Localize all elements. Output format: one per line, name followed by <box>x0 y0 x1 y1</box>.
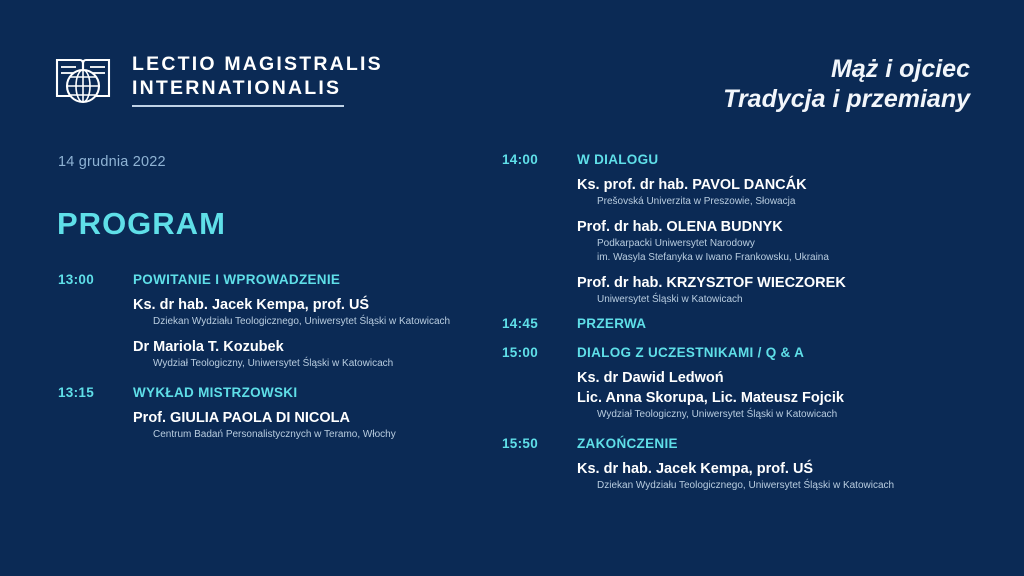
spacer <box>502 307 972 316</box>
program-entry: 14:00W DIALOGUKs. prof. dr hab. PAVOL DA… <box>502 152 972 307</box>
program-entry-header: 14:00W DIALOGU <box>502 152 972 167</box>
program-entry-time: 13:15 <box>58 385 133 400</box>
speaker: Prof. dr hab. KRZYSZTOF WIECZOREKUniwers… <box>577 274 972 307</box>
program-entry-body: Ks. dr Dawid LedwońLic. Anna Skorupa, Li… <box>502 369 972 422</box>
logo: LECTIO MAGISTRALIS INTERNATIONALIS <box>52 48 383 110</box>
speaker-affiliation: Dziekan Wydziału Teologicznego, Uniwersy… <box>577 479 972 493</box>
speaker-name: Ks. dr hab. Jacek Kempa, prof. UŚ <box>577 460 972 479</box>
speaker-name: Prof. dr hab. KRZYSZTOF WIECZOREK <box>577 274 972 293</box>
slide-header: LECTIO MAGISTRALIS INTERNATIONALIS Mąż i… <box>0 0 1024 140</box>
speaker: Ks. dr Dawid Ledwoń <box>577 369 972 388</box>
program-entry-title: DIALOG Z UCZESTNIKAMI / Q & A <box>577 345 804 360</box>
program-entry-body: Ks. prof. dr hab. PAVOL DANCÁKPrešovská … <box>502 176 972 307</box>
program-entry-title: ZAKOŃCZENIE <box>577 436 678 451</box>
program-entry-header: 13:00POWITANIE I WPROWADZENIE <box>58 272 488 287</box>
spacer <box>502 331 972 345</box>
program-entry-time: 14:45 <box>502 316 577 331</box>
program-entry: 14:45PRZERWA <box>502 316 972 331</box>
program-entry-time: 13:00 <box>58 272 133 287</box>
program-entry-time: 14:00 <box>502 152 577 167</box>
program-entry-title: PRZERWA <box>577 316 646 331</box>
program-entry: 13:00POWITANIE I WPROWADZENIEKs. dr hab.… <box>58 272 488 371</box>
speaker: Ks. prof. dr hab. PAVOL DANCÁKPrešovská … <box>577 176 972 209</box>
speaker-affiliation: im. Wasyla Stefanyka w Iwano Frankowsku,… <box>577 251 972 265</box>
program-entry-body: Ks. dr hab. Jacek Kempa, prof. UŚDziekan… <box>502 460 972 493</box>
program-column-left: 13:00POWITANIE I WPROWADZENIEKs. dr hab.… <box>58 272 488 442</box>
program-entry-header: 13:15WYKŁAD MISTRZOWSKI <box>58 385 488 400</box>
speaker-name: Prof. GIULIA PAOLA DI NICOLA <box>133 409 488 428</box>
speaker: Prof. dr hab. OLENA BUDNYKPodkarpacki Un… <box>577 218 972 265</box>
program-entry-title: W DIALOGU <box>577 152 658 167</box>
speaker-name: Ks. dr hab. Jacek Kempa, prof. UŚ <box>133 296 488 315</box>
speaker-affiliation: Uniwersytet Śląski w Katowicach <box>577 293 972 307</box>
speaker: Lic. Anna Skorupa, Lic. Mateusz FojcikWy… <box>577 389 972 422</box>
program-column-right: 14:00W DIALOGUKs. prof. dr hab. PAVOL DA… <box>502 152 972 493</box>
event-date: 14 grudnia 2022 <box>58 154 166 170</box>
program-entry-body: Prof. GIULIA PAOLA DI NICOLACentrum Bada… <box>58 409 488 442</box>
speaker-affiliation: Podkarpacki Uniwersytet Narodowy <box>577 237 972 251</box>
speaker-affiliation: Dziekan Wydziału Teologicznego, Uniwersy… <box>133 315 488 329</box>
event-title-line-2: Tradycja i przemiany <box>723 84 970 114</box>
program-entry-header: 15:00DIALOG Z UCZESTNIKAMI / Q & A <box>502 345 972 360</box>
speaker: Ks. dr hab. Jacek Kempa, prof. UŚDziekan… <box>133 296 488 329</box>
speaker-affiliation: Centrum Badań Personalistycznych w Teram… <box>133 428 488 442</box>
spacer <box>58 371 488 385</box>
speaker: Ks. dr hab. Jacek Kempa, prof. UŚDziekan… <box>577 460 972 493</box>
logo-line-1: LECTIO MAGISTRALIS <box>132 52 383 76</box>
program-entry-title: WYKŁAD MISTRZOWSKI <box>133 385 297 400</box>
program-entry-header: 14:45PRZERWA <box>502 316 972 331</box>
speaker-name: Ks. dr Dawid Ledwoń <box>577 369 972 388</box>
speaker-affiliation: Wydział Teologiczny, Uniwersytet Śląski … <box>577 408 972 422</box>
program-entry: 15:50ZAKOŃCZENIEKs. dr hab. Jacek Kempa,… <box>502 436 972 493</box>
speaker-name: Ks. prof. dr hab. PAVOL DANCÁK <box>577 176 972 195</box>
spacer <box>502 422 972 436</box>
logo-underline <box>132 105 344 107</box>
speaker: Prof. GIULIA PAOLA DI NICOLACentrum Bada… <box>133 409 488 442</box>
event-title-line-1: Mąż i ojciec <box>723 54 970 84</box>
program-entry-title: POWITANIE I WPROWADZENIE <box>133 272 340 287</box>
open-book-globe-icon <box>52 48 114 110</box>
speaker-name: Prof. dr hab. OLENA BUDNYK <box>577 218 972 237</box>
logo-text: LECTIO MAGISTRALIS INTERNATIONALIS <box>132 48 383 107</box>
program-entry-time: 15:50 <box>502 436 577 451</box>
event-title: Mąż i ojciec Tradycja i przemiany <box>723 54 970 114</box>
speaker-name: Lic. Anna Skorupa, Lic. Mateusz Fojcik <box>577 389 972 408</box>
program-entry-body: Ks. dr hab. Jacek Kempa, prof. UŚDziekan… <box>58 296 488 371</box>
program-entry-time: 15:00 <box>502 345 577 360</box>
program-entry: 15:00DIALOG Z UCZESTNIKAMI / Q & AKs. dr… <box>502 345 972 422</box>
speaker-affiliation: Wydział Teologiczny, Uniwersytet Śląski … <box>133 357 488 371</box>
page-title: PROGRAM <box>57 206 226 242</box>
speaker: Dr Mariola T. KozubekWydział Teologiczny… <box>133 338 488 371</box>
program-entry-header: 15:50ZAKOŃCZENIE <box>502 436 972 451</box>
speaker-name: Dr Mariola T. Kozubek <box>133 338 488 357</box>
logo-line-2: INTERNATIONALIS <box>132 76 383 100</box>
speaker-affiliation: Prešovská Univerzita w Preszowie, Słowac… <box>577 195 972 209</box>
program-entry: 13:15WYKŁAD MISTRZOWSKIProf. GIULIA PAOL… <box>58 385 488 442</box>
